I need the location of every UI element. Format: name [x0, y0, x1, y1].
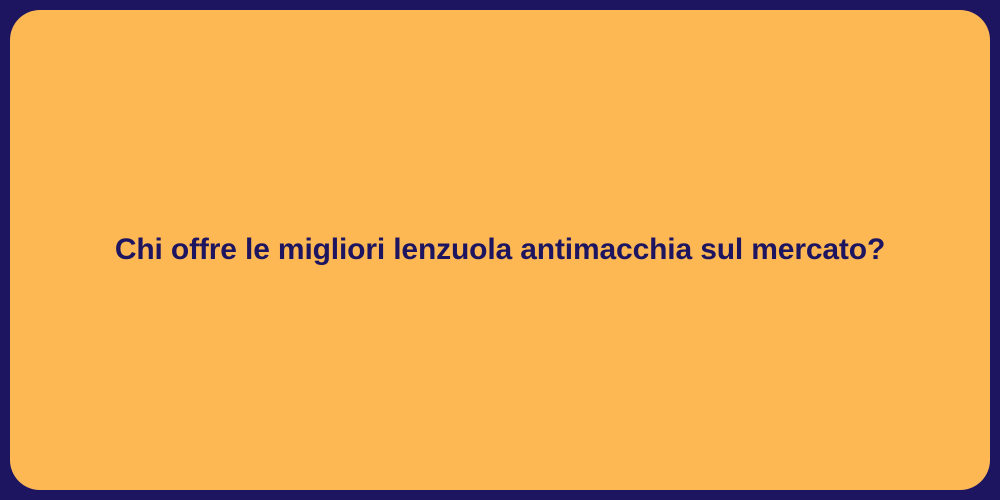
question-card: Chi offre le migliori lenzuola antimacch… [10, 10, 990, 490]
page-frame: Chi offre le migliori lenzuola antimacch… [0, 0, 1000, 500]
question-heading: Chi offre le migliori lenzuola antimacch… [75, 231, 925, 269]
